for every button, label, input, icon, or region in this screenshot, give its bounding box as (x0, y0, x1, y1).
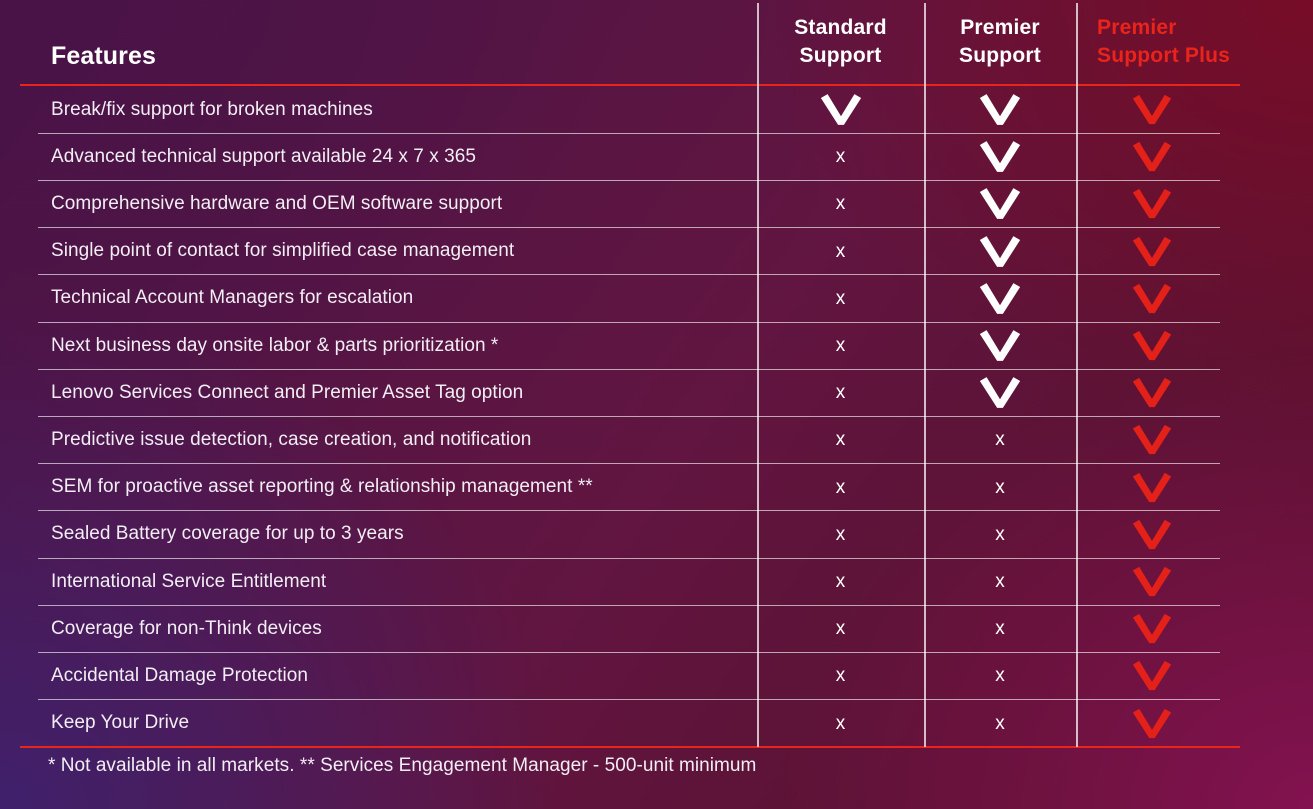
x-mark-icon: x (836, 383, 846, 402)
cell-premier-support: x (924, 416, 1076, 463)
check-icon (1130, 141, 1174, 172)
x-mark-icon: x (995, 714, 1005, 733)
cell-premier-support-plus (1076, 464, 1228, 511)
check-icon (1130, 283, 1174, 314)
table-row: Next business day onsite labor & parts p… (0, 322, 1313, 369)
features-column-header: Features (51, 42, 156, 71)
cell-premier-support: x (924, 464, 1076, 511)
column-header-premier-support-plus-line2: Support Plus (1097, 42, 1256, 70)
cell-premier-support: x (924, 652, 1076, 699)
cell-standard-support: x (757, 700, 924, 747)
cell-standard-support: x (757, 464, 924, 511)
check-icon (1130, 330, 1174, 361)
cell-premier-support (924, 322, 1076, 369)
table-row: Predictive issue detection, case creatio… (0, 416, 1313, 463)
check-icon (1130, 708, 1174, 739)
x-mark-icon: x (995, 478, 1005, 497)
feature-label: Advanced technical support available 24 … (51, 133, 476, 180)
x-mark-icon: x (836, 478, 846, 497)
column-header-standard-support: Standard Support (757, 14, 924, 70)
cell-premier-support-plus (1076, 416, 1228, 463)
table-row: Lenovo Services Connect and Premier Asse… (0, 369, 1313, 416)
table-footnote: * Not available in all markets. ** Servi… (48, 755, 756, 777)
check-icon (1130, 236, 1174, 267)
check-icon (977, 282, 1023, 315)
check-icon (1130, 188, 1174, 219)
cell-standard-support: x (757, 558, 924, 605)
cell-premier-support (924, 228, 1076, 275)
x-mark-icon: x (836, 336, 846, 355)
cell-premier-support (924, 86, 1076, 133)
x-mark-icon: x (836, 666, 846, 685)
x-mark-icon: x (836, 147, 846, 166)
cell-premier-support-plus (1076, 652, 1228, 699)
table-row: Comprehensive hardware and OEM software … (0, 180, 1313, 227)
cell-standard-support (757, 86, 924, 133)
cell-premier-support-plus (1076, 605, 1228, 652)
cell-premier-support-plus (1076, 86, 1228, 133)
feature-label: Accidental Damage Protection (51, 652, 308, 699)
cell-premier-support-plus (1076, 133, 1228, 180)
check-icon (977, 376, 1023, 409)
column-header-premier-support: Premier Support (924, 14, 1076, 70)
x-mark-icon: x (836, 714, 846, 733)
comparison-table: Features Standard Support Premier Suppor… (0, 0, 1313, 809)
table-row: SEM for proactive asset reporting & rela… (0, 464, 1313, 511)
table-row: Single point of contact for simplified c… (0, 228, 1313, 275)
check-icon (1130, 424, 1174, 455)
cell-premier-support-plus (1076, 322, 1228, 369)
feature-label: SEM for proactive asset reporting & rela… (51, 464, 593, 511)
check-icon (977, 187, 1023, 220)
x-mark-icon: x (995, 572, 1005, 591)
x-mark-icon: x (995, 666, 1005, 685)
cell-premier-support: x (924, 605, 1076, 652)
table-row: Sealed Battery coverage for up to 3 year… (0, 511, 1313, 558)
x-mark-icon: x (836, 525, 846, 544)
table-row: Accidental Damage Protectionxx (0, 652, 1313, 699)
cell-premier-support-plus (1076, 558, 1228, 605)
check-icon (1130, 377, 1174, 408)
cell-premier-support-plus (1076, 369, 1228, 416)
table-row: Keep Your Drivexx (0, 700, 1313, 747)
table-row: Advanced technical support available 24 … (0, 133, 1313, 180)
check-icon (977, 235, 1023, 268)
table-row: Coverage for non-Think devicesxx (0, 605, 1313, 652)
column-header-premier-support-plus-line1: Premier (1097, 16, 1177, 39)
check-icon (977, 329, 1023, 362)
cell-standard-support: x (757, 322, 924, 369)
x-mark-icon: x (836, 289, 846, 308)
cell-premier-support (924, 180, 1076, 227)
cell-premier-support-plus (1076, 511, 1228, 558)
table-header: Features Standard Support Premier Suppor… (0, 0, 1313, 84)
cell-premier-support (924, 133, 1076, 180)
cell-premier-support (924, 369, 1076, 416)
column-header-premier-support-line2: Support (924, 42, 1076, 70)
feature-label: Lenovo Services Connect and Premier Asse… (51, 369, 523, 416)
cell-standard-support: x (757, 416, 924, 463)
check-icon (1130, 660, 1174, 691)
check-icon (1130, 94, 1174, 125)
column-header-premier-support-line1: Premier (960, 16, 1040, 39)
x-mark-icon: x (836, 242, 846, 261)
cell-standard-support: x (757, 228, 924, 275)
cell-standard-support: x (757, 369, 924, 416)
check-icon (977, 140, 1023, 173)
feature-label: Sealed Battery coverage for up to 3 year… (51, 511, 404, 558)
x-mark-icon: x (836, 572, 846, 591)
cell-premier-support: x (924, 558, 1076, 605)
check-icon (1130, 472, 1174, 503)
feature-label: Comprehensive hardware and OEM software … (51, 180, 502, 227)
cell-standard-support: x (757, 652, 924, 699)
x-mark-icon: x (995, 619, 1005, 638)
table-row: Technical Account Managers for escalatio… (0, 275, 1313, 322)
cell-standard-support: x (757, 511, 924, 558)
cell-premier-support-plus (1076, 180, 1228, 227)
cell-standard-support: x (757, 605, 924, 652)
column-header-premier-support-plus: Premier Support Plus (1076, 14, 1256, 70)
cell-premier-support-plus (1076, 700, 1228, 747)
check-icon (1130, 519, 1174, 550)
cell-premier-support: x (924, 700, 1076, 747)
feature-label: Next business day onsite labor & parts p… (51, 322, 498, 369)
cell-premier-support: x (924, 511, 1076, 558)
feature-label: Coverage for non-Think devices (51, 605, 322, 652)
feature-label: Keep Your Drive (51, 700, 189, 747)
cell-premier-support-plus (1076, 228, 1228, 275)
cell-premier-support-plus (1076, 275, 1228, 322)
column-header-standard-support-line2: Support (757, 42, 924, 70)
cell-standard-support: x (757, 180, 924, 227)
cell-premier-support (924, 275, 1076, 322)
check-icon (1130, 613, 1174, 644)
feature-label: Predictive issue detection, case creatio… (51, 416, 531, 463)
cell-standard-support: x (757, 133, 924, 180)
feature-label: International Service Entitlement (51, 558, 326, 605)
x-mark-icon: x (995, 525, 1005, 544)
feature-label: Technical Account Managers for escalatio… (51, 275, 413, 322)
feature-label: Single point of contact for simplified c… (51, 228, 514, 275)
cell-standard-support: x (757, 275, 924, 322)
table-row: International Service Entitlementxx (0, 558, 1313, 605)
x-mark-icon: x (836, 430, 846, 449)
check-icon (818, 93, 864, 126)
x-mark-icon: x (995, 430, 1005, 449)
x-mark-icon: x (836, 194, 846, 213)
check-icon (977, 93, 1023, 126)
column-header-standard-support-line1: Standard (794, 16, 887, 39)
feature-label: Break/fix support for broken machines (51, 86, 373, 133)
table-row: Break/fix support for broken machines (0, 86, 1313, 133)
check-icon (1130, 566, 1174, 597)
x-mark-icon: x (836, 619, 846, 638)
